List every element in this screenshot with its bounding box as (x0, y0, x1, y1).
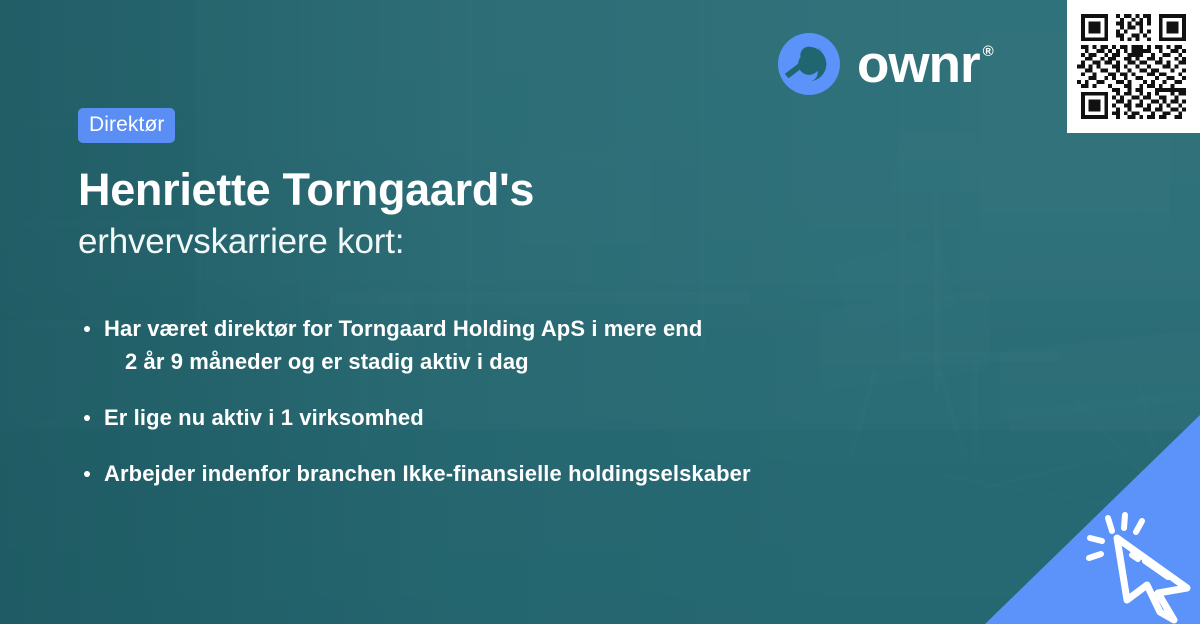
list-item: Arbejder indenfor branchen Ikke-finansie… (80, 457, 980, 490)
list-item-line2: 2 år 9 måneder og er stadig aktiv i dag (104, 345, 980, 378)
career-card: ownr ® Direktør Henriette Torngaard's er… (0, 0, 1200, 624)
bullet-dot-icon (84, 326, 90, 332)
ownr-circle-swirl-icon (778, 33, 840, 95)
header-block: Direktør Henriette Torngaard's erhvervsk… (78, 108, 958, 265)
ownr-wordmark-text: ownr (857, 38, 980, 91)
list-item-line1: Er lige nu aktiv i 1 virksomhed (104, 405, 424, 430)
ownr-logo[interactable]: ownr ® (778, 33, 993, 95)
ownr-wordmark: ownr ® (857, 38, 993, 91)
registered-trademark-icon: ® (983, 44, 993, 59)
role-badge: Direktør (78, 108, 175, 143)
click-cursor-icon (1086, 508, 1200, 624)
page-subtitle: erhvervskarriere kort: (78, 219, 958, 265)
list-item: Er lige nu aktiv i 1 virksomhed (80, 401, 980, 434)
page-title: Henriette Torngaard's (78, 163, 958, 217)
list-item-line1: Arbejder indenfor branchen Ikke-finansie… (104, 461, 751, 486)
bullet-dot-icon (84, 471, 90, 477)
list-item-line1: Har været direktør for Torngaard Holding… (104, 316, 702, 341)
career-facts-list: Har været direktør for Torngaard Holding… (80, 312, 980, 490)
list-item: Har været direktør for Torngaard Holding… (80, 312, 980, 378)
bullet-dot-icon (84, 415, 90, 421)
qr-code[interactable] (1067, 0, 1200, 133)
